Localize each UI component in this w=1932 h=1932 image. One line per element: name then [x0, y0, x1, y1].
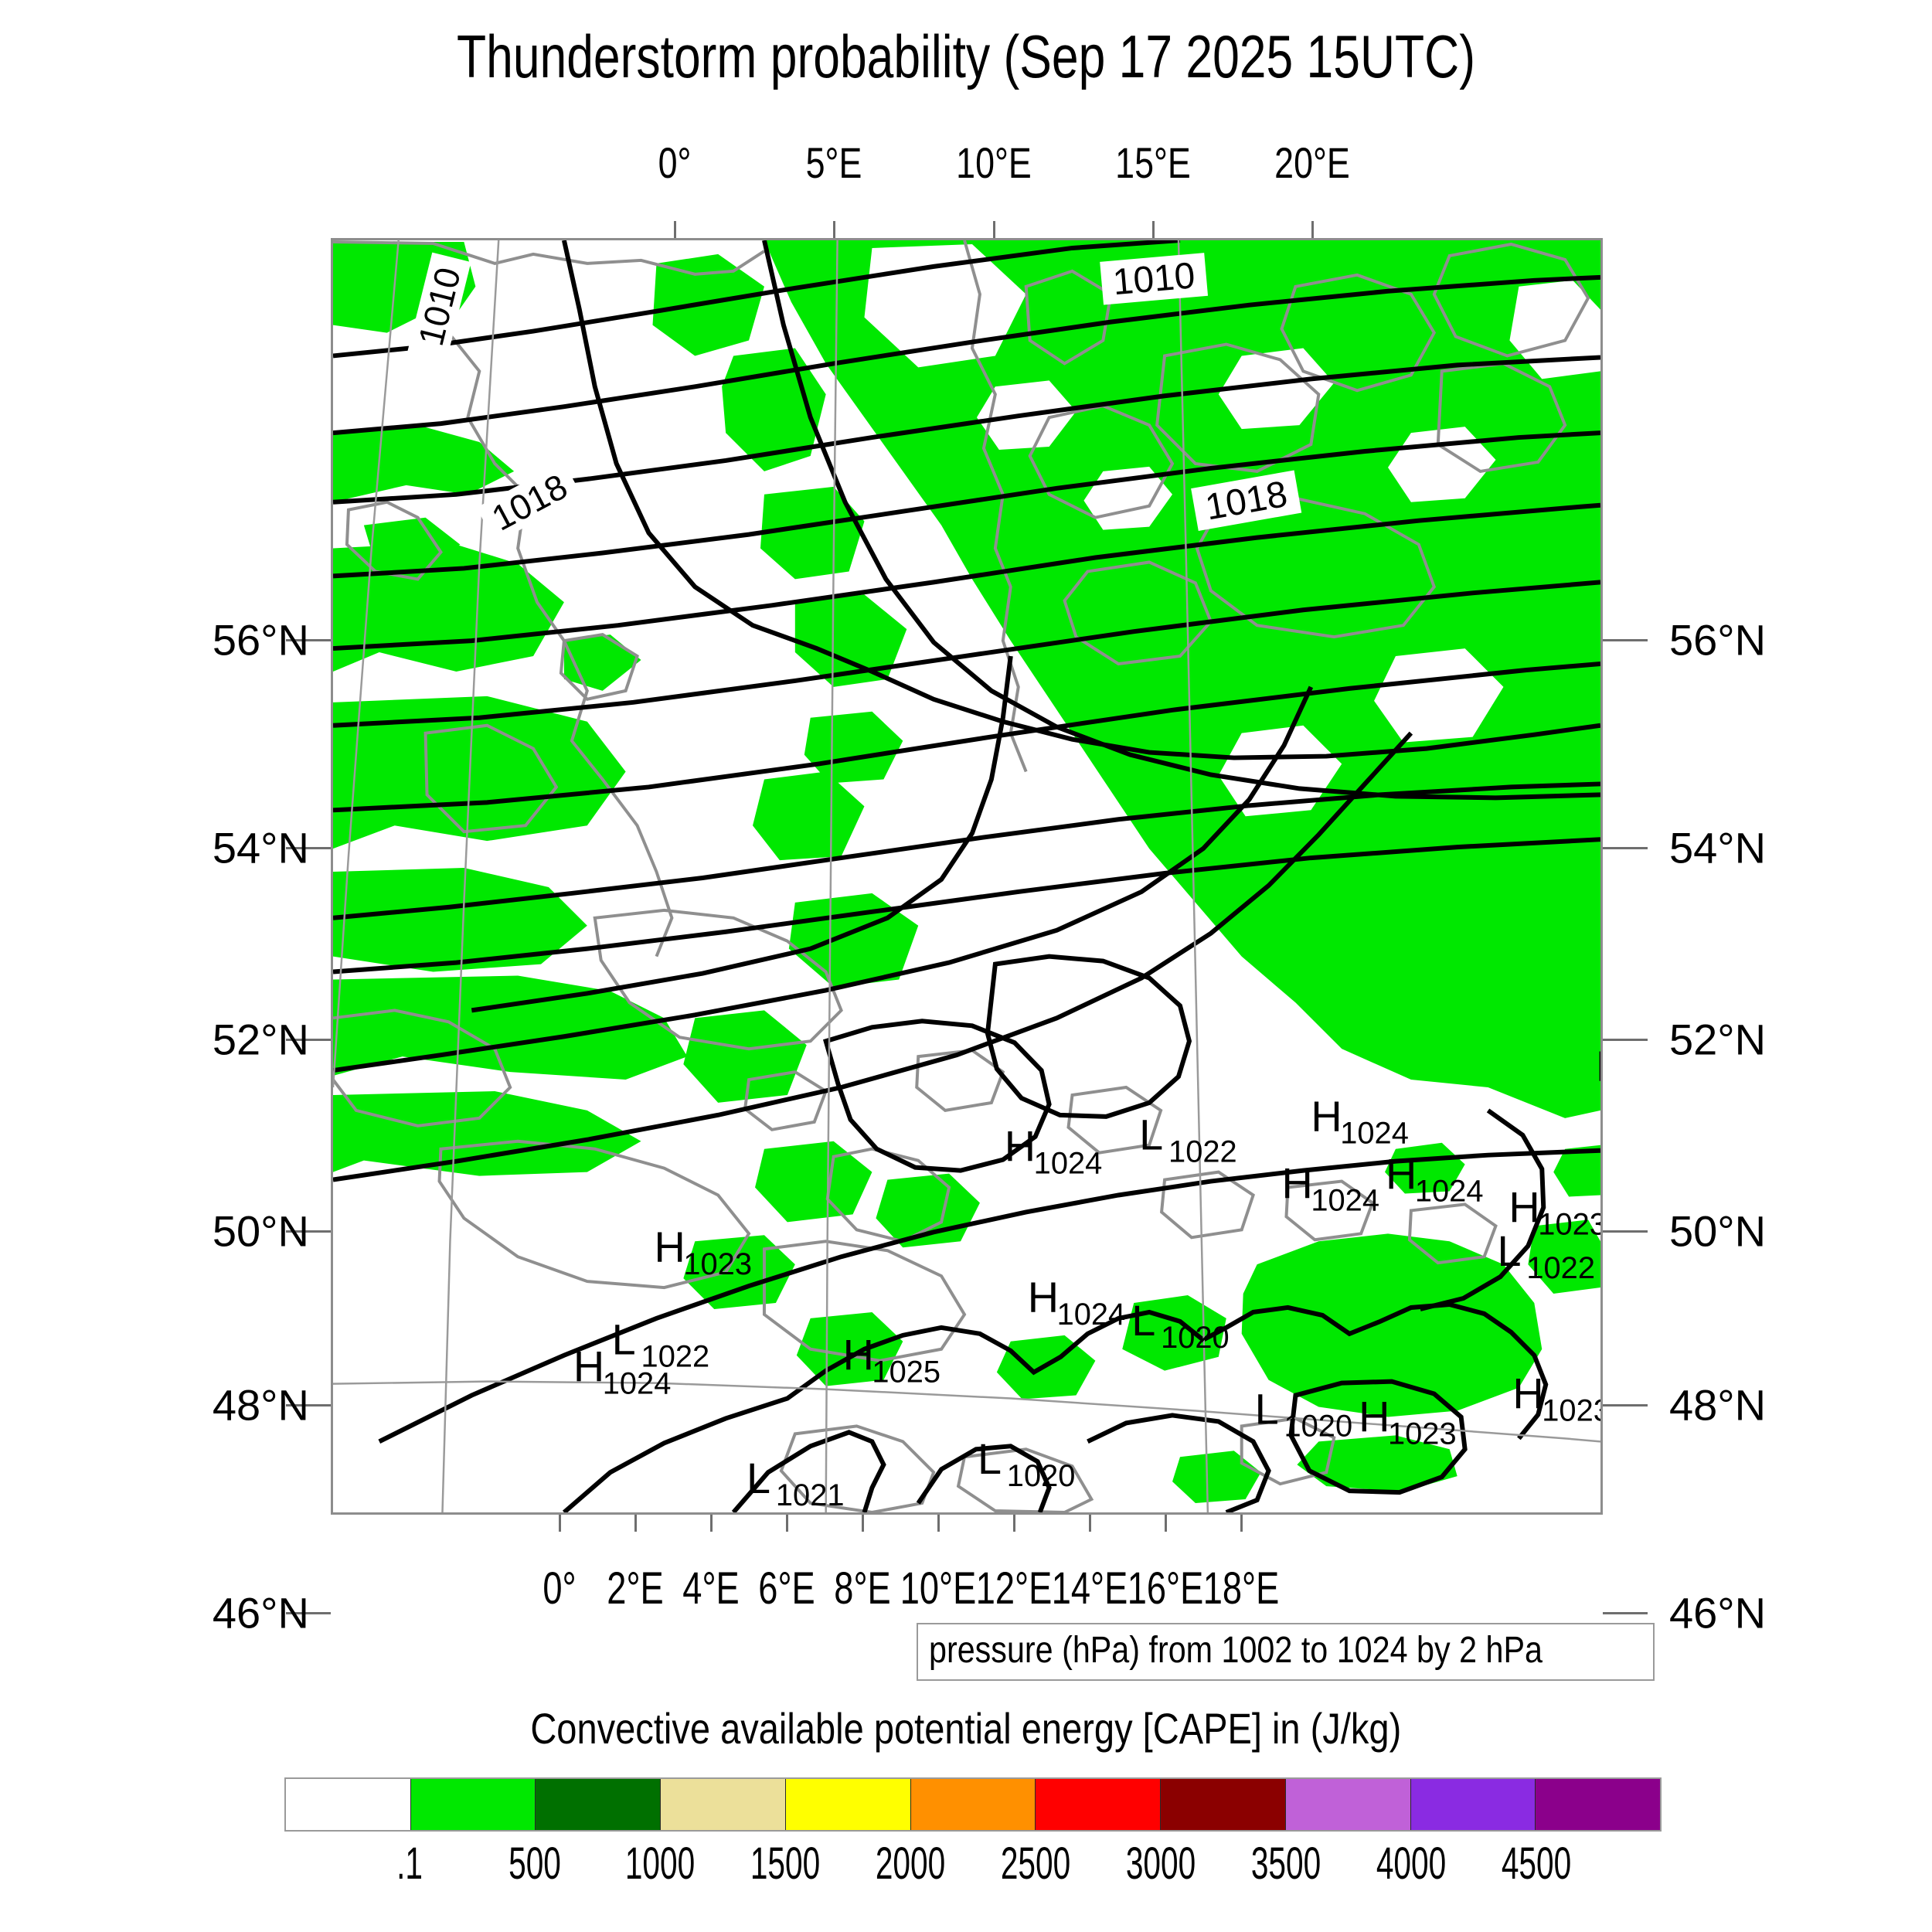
pressure-extremum-h: H	[1596, 1042, 1600, 1090]
svg-text:L: L	[612, 1315, 636, 1364]
right-tick	[1603, 1612, 1648, 1614]
bottom-tick	[786, 1515, 788, 1532]
top-lon-label: 15°E	[1115, 138, 1191, 188]
pressure-extremum-h: H1024	[1028, 1273, 1126, 1332]
pressure-extremum-l: L1022	[1139, 1111, 1237, 1169]
pressure-extremum-h: H1023	[1512, 1369, 1600, 1427]
pressure-extremum-l: L1022	[612, 1315, 710, 1374]
top-lon-label: 0°	[658, 138, 692, 188]
svg-text:L: L	[1497, 1226, 1521, 1275]
top-tick	[1152, 221, 1155, 238]
svg-text:H: H	[1509, 1182, 1539, 1231]
top-lon-label: 5°E	[806, 138, 862, 188]
right-tick	[1603, 847, 1648, 849]
right-tick	[1603, 1230, 1648, 1233]
pressure-extremum-l: L1020	[978, 1434, 1076, 1493]
colorbar-segment-5[interactable]	[911, 1779, 1036, 1830]
colorbar-segment-6[interactable]	[1036, 1779, 1161, 1830]
svg-text:1010: 1010	[1111, 255, 1197, 303]
right-lat-label: 50°N	[1669, 1206, 1839, 1257]
svg-text:1024: 1024	[1415, 1174, 1484, 1208]
pressure-note-text: pressure (hPa) from 1002 to 1024 by 2 hP…	[929, 1629, 1543, 1672]
bottom-lon-label: 6°E	[758, 1563, 815, 1614]
top-lon-label: 20°E	[1274, 138, 1350, 188]
left-lat-label: 48°N	[162, 1380, 309, 1430]
svg-text:H: H	[1282, 1158, 1313, 1207]
left-lat-label: 56°N	[162, 615, 309, 665]
svg-text:H: H	[654, 1223, 685, 1271]
svg-text:1023: 1023	[683, 1247, 752, 1281]
right-tick	[1603, 1039, 1648, 1041]
svg-text:1020: 1020	[1284, 1409, 1352, 1443]
cape-colorbar-ticks: .150010001500200025003000350040004500	[284, 1838, 1662, 1892]
right-lat-label: 56°N	[1669, 615, 1839, 665]
svg-text:L: L	[747, 1454, 770, 1502]
svg-text:H: H	[1512, 1369, 1543, 1417]
svg-text:L: L	[1131, 1296, 1155, 1345]
svg-text:L: L	[1255, 1384, 1279, 1433]
colorbar-tick-label: 4000	[1376, 1838, 1446, 1889]
bottom-tick	[1013, 1515, 1015, 1532]
right-lat-label: 46°N	[1669, 1588, 1839, 1638]
right-tick	[1603, 1404, 1648, 1406]
bottom-tick	[1165, 1515, 1167, 1532]
colorbar-segment-1[interactable]	[411, 1779, 536, 1830]
page-title: Thunderstorm probability (Sep 17 2025 15…	[193, 22, 1739, 92]
colorbar-tick-label: 2000	[876, 1838, 945, 1889]
svg-text:H: H	[843, 1331, 874, 1379]
svg-text:1024: 1024	[1034, 1147, 1103, 1181]
colorbar-segment-7[interactable]	[1161, 1779, 1286, 1830]
svg-text:1022: 1022	[1168, 1135, 1237, 1169]
left-lat-label: 54°N	[162, 823, 309, 873]
bottom-lon-label: 14°E	[1052, 1563, 1128, 1614]
colorbar-tick-label: 3000	[1126, 1838, 1196, 1889]
bottom-tick	[710, 1515, 713, 1532]
bottom-lon-label: 4°E	[682, 1563, 739, 1614]
colorbar-segment-10[interactable]	[1536, 1779, 1660, 1830]
bottom-tick	[1240, 1515, 1243, 1532]
pressure-contour-note: pressure (hPa) from 1002 to 1024 by 2 hP…	[917, 1623, 1655, 1681]
right-tick	[1603, 639, 1648, 641]
colorbar-tick-label: .1	[396, 1838, 423, 1889]
svg-text:H: H	[573, 1342, 604, 1391]
svg-text:1021: 1021	[776, 1478, 845, 1512]
bottom-lon-label: 10°E	[900, 1563, 977, 1614]
colorbar-segment-9[interactable]	[1411, 1779, 1536, 1830]
svg-text:H: H	[1386, 1150, 1417, 1199]
bottom-tick	[937, 1515, 940, 1532]
svg-text:H: H	[1028, 1273, 1059, 1321]
colorbar-segment-2[interactable]	[536, 1779, 661, 1830]
colorbar-segment-8[interactable]	[1286, 1779, 1411, 1830]
left-lat-label: 50°N	[162, 1206, 309, 1257]
weather-map: 1010 1010 1018 1018 H1024L1022H1024H1023…	[333, 240, 1600, 1512]
map-panel[interactable]: 1010 1010 1018 1018 H1024L1022H1024H1023…	[331, 238, 1603, 1515]
top-tick	[833, 221, 835, 238]
bottom-lon-label: 2°E	[607, 1563, 663, 1614]
pressure-extremum-h: H1024	[1005, 1122, 1103, 1181]
bottom-tick	[559, 1515, 561, 1532]
colorbar-tick-label: 1500	[750, 1838, 820, 1889]
colorbar-segment-0[interactable]	[286, 1779, 411, 1830]
svg-text:L: L	[978, 1434, 1002, 1483]
svg-text:1023: 1023	[1388, 1417, 1457, 1451]
top-lon-label: 10°E	[956, 138, 1032, 188]
left-lat-label: 52°N	[162, 1015, 309, 1065]
colorbar-tick-label: 4500	[1502, 1838, 1571, 1889]
bottom-tick	[634, 1515, 637, 1532]
top-tick	[993, 221, 995, 238]
svg-text:1024: 1024	[1311, 1183, 1379, 1217]
svg-text:1024: 1024	[1057, 1298, 1126, 1332]
colorbar-segment-3[interactable]	[661, 1779, 786, 1830]
top-tick	[1311, 221, 1314, 238]
left-lat-label: 46°N	[162, 1588, 309, 1638]
svg-text:L: L	[1139, 1111, 1163, 1159]
svg-text:H: H	[1596, 1042, 1600, 1090]
pressure-extremum-l: L1021	[747, 1454, 845, 1512]
right-lat-label: 52°N	[1669, 1015, 1839, 1065]
svg-text:H: H	[1311, 1092, 1342, 1141]
pressure-extremum-h: H1023	[654, 1223, 752, 1281]
colorbar-tick-label: 3500	[1251, 1838, 1321, 1889]
pressure-extremum-h: H1024	[1311, 1092, 1409, 1151]
bottom-lon-label: 12°E	[976, 1563, 1053, 1614]
colorbar-tick-label: 1000	[625, 1838, 695, 1889]
top-tick	[674, 221, 676, 238]
colorbar-tick-label: 2500	[1001, 1838, 1070, 1889]
svg-text:H: H	[1359, 1392, 1389, 1440]
bottom-lon-label: 18°E	[1203, 1563, 1280, 1614]
svg-text:1020: 1020	[1161, 1321, 1230, 1355]
svg-text:1022: 1022	[1526, 1251, 1595, 1285]
svg-text:1023: 1023	[1542, 1393, 1600, 1427]
colorbar-caption: Convective available potential energy [C…	[0, 1703, 1932, 1753]
cape-colorbar[interactable]	[284, 1777, 1662, 1832]
svg-text:1024: 1024	[603, 1367, 672, 1401]
svg-text:1025: 1025	[872, 1355, 940, 1389]
right-lat-label: 48°N	[1669, 1380, 1839, 1430]
bottom-lon-label: 0°	[543, 1563, 576, 1614]
colorbar-segment-4[interactable]	[786, 1779, 911, 1830]
right-lat-label: 54°N	[1669, 823, 1839, 873]
bottom-lon-label: 8°E	[834, 1563, 890, 1614]
bottom-tick	[1089, 1515, 1091, 1532]
colorbar-tick-label: 500	[509, 1838, 561, 1889]
colorbar-caption-text: Convective available potential energy [C…	[531, 1703, 1402, 1753]
svg-text:1023: 1023	[1538, 1207, 1600, 1241]
svg-text:H: H	[1005, 1122, 1036, 1171]
svg-text:1020: 1020	[1007, 1459, 1076, 1493]
bottom-tick	[862, 1515, 864, 1532]
svg-text:1024: 1024	[1340, 1117, 1409, 1151]
bottom-lon-label: 16°E	[1128, 1563, 1204, 1614]
